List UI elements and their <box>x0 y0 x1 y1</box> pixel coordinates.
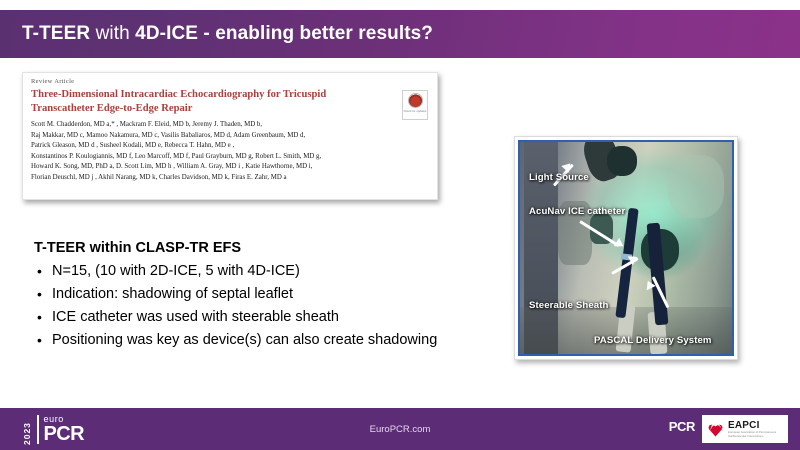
heart-icon <box>707 421 724 438</box>
content-bullets: T-TEER within CLASP-TR EFS • N=15, (10 w… <box>34 240 494 353</box>
europcr-logo-wordmark: euro PCR <box>44 415 84 444</box>
author-line: Raj Makkar, MD c, Mamoo Nakamura, MD c, … <box>31 131 429 142</box>
eapci-name: EAPCI <box>728 420 783 431</box>
slide-footer: 2023 euro PCR EuroPCR.com PCR EAPCI Euro… <box>0 408 800 450</box>
europcr-logo: 2023 euro PCR <box>22 414 84 445</box>
slide-header: T-TEER with 4D-ICE - enabling better res… <box>0 10 800 58</box>
procedure-photo: Light Source AcuNav ICE catheter Steerab… <box>518 140 734 356</box>
europcr-logo-year: 2023 <box>22 415 32 445</box>
bullets-heading: T-TEER within CLASP-TR EFS <box>34 240 494 256</box>
procedure-photo-frame: Light Source AcuNav ICE catheter Steerab… <box>514 136 738 360</box>
bullet-marker-icon: • <box>34 307 52 328</box>
list-item: • Indication: shadowing of septal leafle… <box>34 284 494 305</box>
photo-shape-dark-top <box>607 146 637 176</box>
article-author-list: Scott M. Chadderdon, MD a,* , Mackram F.… <box>31 120 429 184</box>
author-line: Scott M. Chadderdon, MD a,* , Mackram F.… <box>31 120 429 131</box>
crossmark-glyph <box>408 93 423 108</box>
list-item-label: ICE catheter was used with steerable she… <box>52 307 339 328</box>
list-item-label: N=15, (10 with 2D-ICE, 5 with 4D-ICE) <box>52 261 300 282</box>
check-for-updates-icon: Check for updates <box>402 90 428 120</box>
europcr-logo-pcr: PCR <box>44 425 84 444</box>
pcr-logo: PCR <box>669 419 695 434</box>
photo-label-steerable-sheath: Steerable Sheath <box>529 300 608 311</box>
author-line: Patrick Gleason, MD d , Susheel Kodali, … <box>31 141 429 152</box>
photo-label-pascal-delivery-system: PASCAL Delivery System <box>594 335 712 346</box>
list-item-label: Indication: shadowing of septal leaflet <box>52 284 293 305</box>
europcr-logo-divider <box>37 415 39 444</box>
photo-shape-highlight <box>668 155 723 219</box>
photo-label-acunav-catheter: AcuNav ICE catheter <box>529 206 625 217</box>
list-item-label: Positioning was key as device(s) can als… <box>52 330 437 351</box>
photo-label-light-source: Light Source <box>529 172 589 183</box>
eapci-subtitle: European Association of Percutaneous Car… <box>728 431 783 438</box>
check-for-updates-caption: Check for updates <box>403 110 427 113</box>
title-segment-4dice: 4D-ICE - enabling better results? <box>135 23 433 44</box>
title-segment-with: with <box>96 23 130 44</box>
page-title: T-TEER with 4D-ICE - enabling better res… <box>22 23 433 45</box>
list-item: • Positioning was key as device(s) can a… <box>34 330 494 351</box>
author-line: Florian Deuschl, MD j , Akhil Narang, MD… <box>31 173 429 184</box>
list-item: • N=15, (10 with 2D-ICE, 5 with 4D-ICE) <box>34 261 494 282</box>
article-title: Three-Dimensional Intracardiac Echocardi… <box>31 88 371 115</box>
list-item: • ICE catheter was used with steerable s… <box>34 307 494 328</box>
heart-swoosh <box>709 421 721 431</box>
eapci-logo: EAPCI European Association of Percutaneo… <box>702 415 788 443</box>
bullet-marker-icon: • <box>34 261 52 282</box>
author-line: Howard K. Song, MD, PhD a, D. Scott Lim,… <box>31 162 429 173</box>
bullet-marker-icon: • <box>34 284 52 305</box>
article-kicker: Review Article <box>31 78 429 85</box>
eapci-wordmark: EAPCI European Association of Percutaneo… <box>728 420 783 438</box>
author-line: Konstantinos P. Koulogiannis, MD f, Leo … <box>31 152 429 163</box>
bullet-marker-icon: • <box>34 330 52 351</box>
title-segment-tteer: T-TEER <box>22 23 90 44</box>
article-preview-card: Review Article Three-Dimensional Intraca… <box>22 72 438 200</box>
footer-website-label: EuroPCR.com <box>370 424 431 435</box>
